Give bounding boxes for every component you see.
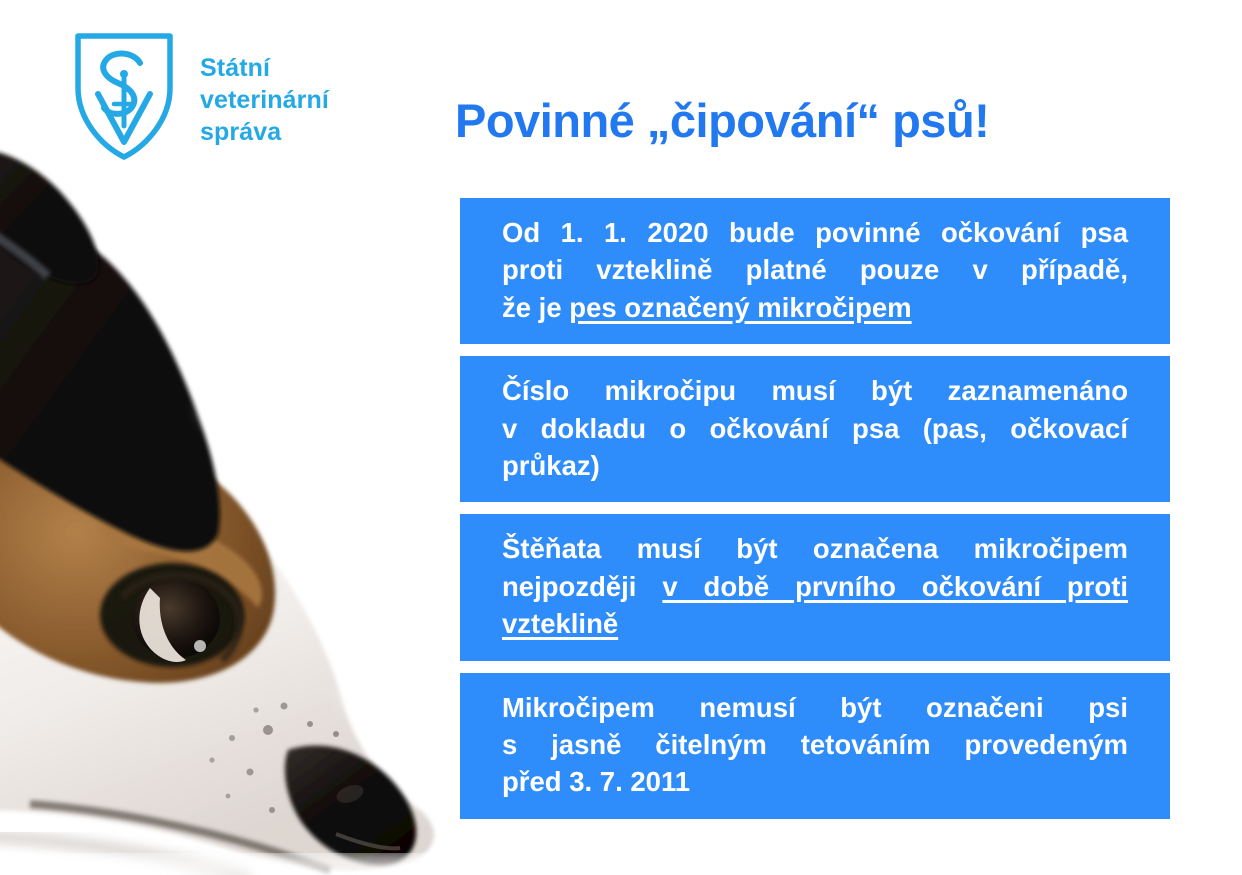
dog-nose-highlight	[334, 782, 366, 807]
dog-brow-tan	[100, 522, 262, 608]
serpent-head	[120, 70, 128, 78]
dog-head-photo	[0, 110, 450, 875]
info-box-line: proti vzteklině platné pouze v případě,	[502, 251, 1128, 288]
dog-eyelid	[122, 575, 239, 660]
poster-canvas: Státní veterinární správa Povinné „čipov…	[0, 0, 1242, 875]
plain-text: Mikročipem nemusí být označeni psi	[502, 692, 1128, 723]
emphasised-text: pes označený mikročipem	[569, 292, 911, 323]
dog-eye-catchlight	[139, 588, 186, 662]
dog-eye-glint	[194, 640, 206, 652]
photo-edge-feather-right	[340, 650, 450, 810]
dog-lip-line	[30, 804, 330, 870]
dog-cheek-tan	[0, 409, 275, 683]
dog-head-illustration	[0, 110, 450, 875]
box-puppies-rule: Štěňata musí být označena mikročipemnejp…	[460, 514, 1170, 660]
dog-ear-highlight	[0, 222, 48, 276]
dog-eye-socket	[100, 563, 244, 667]
plain-text: v dokladu o očkování psa (pas, očkovací	[502, 413, 1128, 444]
plain-text: že je	[502, 292, 569, 323]
emphasised-text: vzteklině	[502, 608, 618, 639]
dog-muzzle-ticking	[209, 703, 339, 814]
info-box-line: že je pes označený mikročipem	[502, 289, 1128, 326]
info-box-line: před 3. 7. 2011	[502, 763, 1128, 800]
emphasised-text: v době prvního očkování proti	[662, 571, 1128, 602]
plain-text: před 3. 7. 2011	[502, 766, 690, 797]
box-chip-number-record: Číslo mikročipu musí být zaznamenánov do…	[460, 356, 1170, 502]
info-box-line: v dokladu o očkování psa (pas, očkovací	[502, 410, 1128, 447]
shield-caduceus-icon	[72, 30, 176, 162]
info-box-line: Od 1. 1. 2020 bude povinné očkování psa	[502, 214, 1128, 251]
dog-nostril-line	[336, 834, 400, 848]
info-box-line: Mikročipem nemusí být označeni psi	[502, 689, 1128, 726]
dog-ear	[0, 149, 98, 283]
info-box-line: Štěňata musí být označena mikročipem	[502, 530, 1128, 567]
photo-edge-feather-top	[200, 310, 450, 580]
box-tattoo-exception: Mikročipem nemusí být označeni psis jasn…	[460, 673, 1170, 819]
info-box-line: nejpozději v době prvního očkování proti	[502, 568, 1128, 605]
plain-text: Číslo mikročipu musí být zaznamenáno	[502, 375, 1128, 406]
info-box-list: Od 1. 1. 2020 bude povinné očkování psap…	[460, 198, 1170, 831]
dog-eye	[132, 578, 220, 658]
photo-edge-feather-bottom	[0, 855, 450, 875]
plain-text: proti vzteklině platné pouze v případě,	[502, 254, 1128, 285]
info-box-line: Číslo mikročipu musí být zaznamenáno	[502, 372, 1128, 409]
plain-text: nejpozději	[502, 571, 662, 602]
plain-text: Od 1. 1. 2020 bude povinné očkování psa	[502, 217, 1128, 248]
info-box-line: s jasně čitelným tetováním provedeným	[502, 726, 1128, 763]
page-title: Povinné „čipování“ psů!	[455, 96, 1185, 145]
plain-text: s jasně čitelným tetováním provedeným	[502, 729, 1128, 760]
organization-name: Státní veterinární správa	[200, 52, 329, 148]
dog-nose	[285, 746, 416, 866]
plain-text: průkaz)	[502, 450, 600, 481]
plain-text: Štěňata musí být označena mikročipem	[502, 533, 1128, 564]
box-vaccination-rule: Od 1. 1. 2020 bude povinné očkování psap…	[460, 198, 1170, 344]
info-box-line: průkaz)	[502, 447, 1128, 484]
organization-logo: Státní veterinární správa	[72, 30, 329, 162]
dog-head-black-mask	[0, 210, 220, 552]
dog-jaw-shadow	[0, 836, 250, 875]
info-box-line: vzteklině	[502, 605, 1128, 642]
dog-muzzle-white	[0, 427, 434, 870]
